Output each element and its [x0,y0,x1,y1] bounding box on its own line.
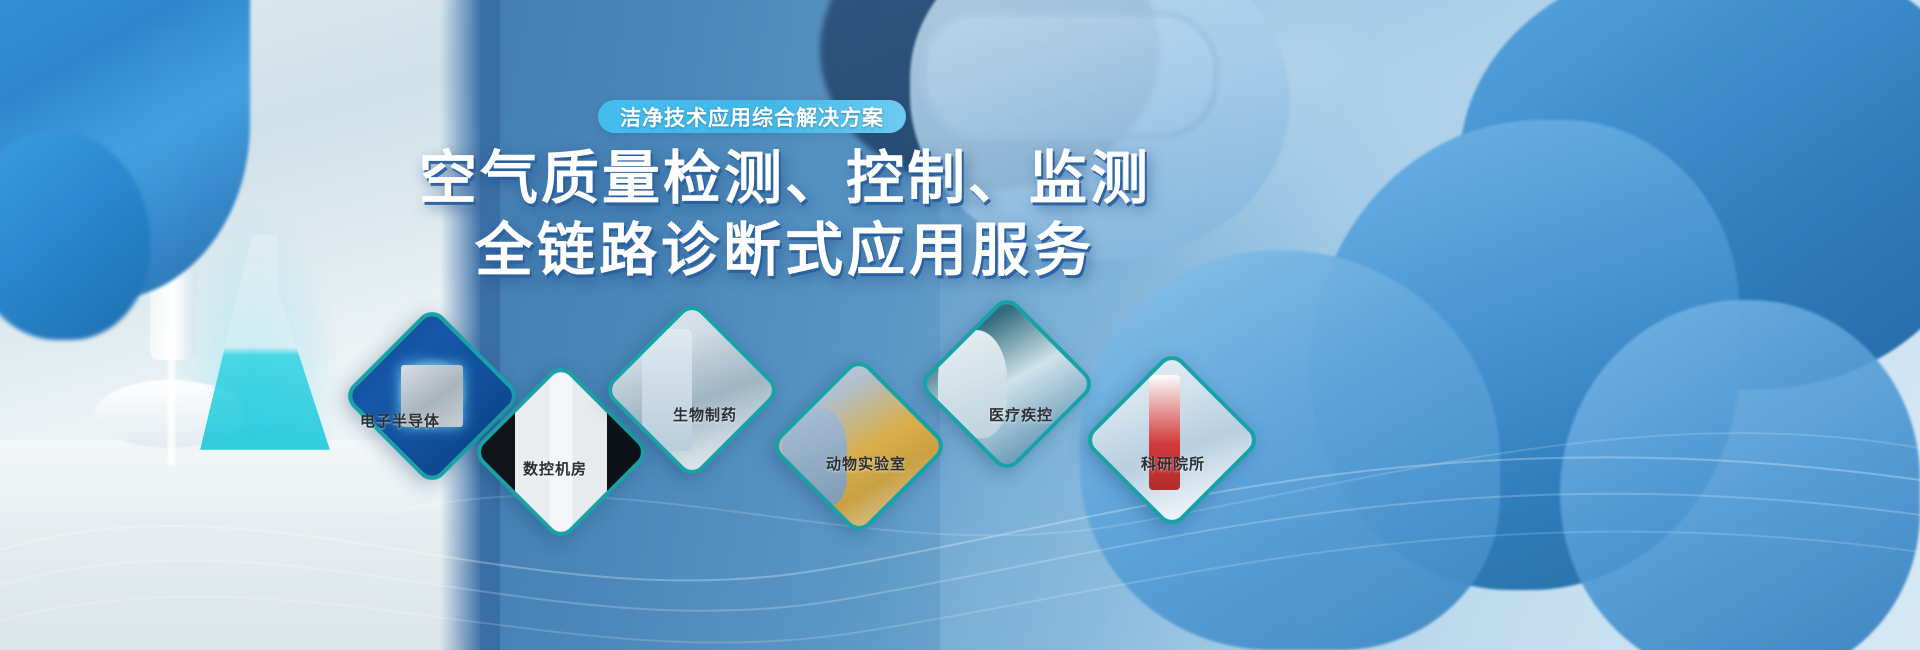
hero-banner: 洁净技术应用综合解决方案 空气质量检测、控制、监测 全链路诊断式应用服务 电子半… [0,0,1920,650]
medical-cdc-icon [916,293,1097,474]
industry-card-label-datacenter: 数控机房 [523,458,587,479]
industry-card-label-animal-lab: 动物实验室 [826,453,906,474]
banner-content: 洁净技术应用综合解决方案 空气质量检测、控制、监测 全链路诊断式应用服务 电子半… [0,0,1920,650]
industry-card-label-electronics: 电子半导体 [360,410,440,431]
industry-card-label-research: 科研院所 [1141,453,1205,474]
industry-card-research[interactable] [1081,349,1262,530]
research-test-icon [1081,349,1262,530]
industry-card-row: 电子半导体 数控机房 生物制药 动物实验室 医疗疾控 科研院所 [0,0,1920,650]
industry-card-label-medical-cdc: 医疗疾控 [989,404,1053,425]
industry-card-medical-cdc[interactable] [916,293,1097,474]
industry-card-label-biopharma: 生物制药 [673,404,737,425]
